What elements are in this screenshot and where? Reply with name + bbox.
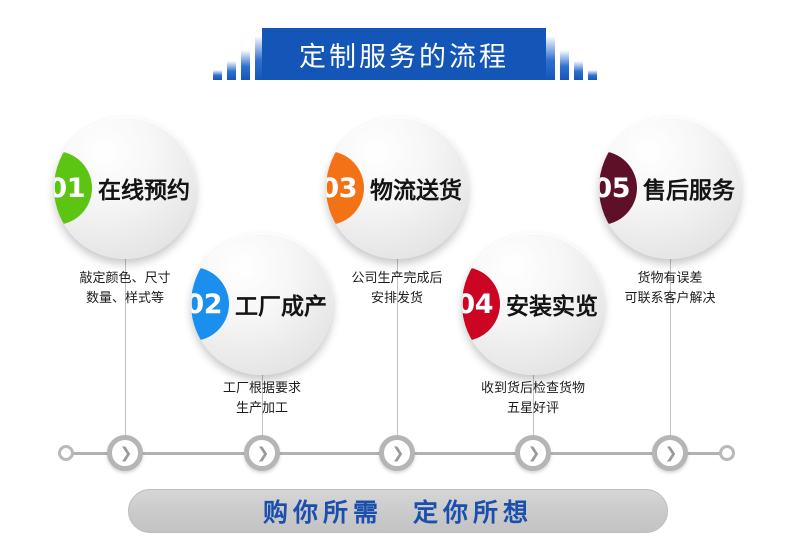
caption-line: 收到货后检查货物 (448, 378, 618, 398)
step-number: 03 (326, 173, 357, 204)
step-node-01[interactable]: 01 在线预约 (54, 117, 196, 259)
step-caption-05: 货物有误差 可联系客户解决 (585, 268, 755, 308)
chevron-right-icon: ❯ (257, 446, 270, 461)
decor-bar (560, 50, 569, 80)
chevron-right-icon: ❯ (392, 446, 405, 461)
step-node-03[interactable]: 03 物流送货 (326, 117, 468, 259)
caption-line: 可联系客户解决 (585, 288, 755, 308)
timeline-end-cap-left (58, 445, 74, 461)
caption-line: 生产加工 (177, 398, 347, 418)
title-area: 定制服务的流程 (0, 14, 790, 80)
infographic-root: 定制服务的流程 01 在线预约 敲定颜色、尺寸 数量、样式等 02 (0, 0, 790, 552)
step-number-badge: 01 (54, 151, 92, 225)
step-number-badge: 05 (599, 151, 637, 225)
chevron-right-icon: ❯ (528, 446, 541, 461)
step-number: 04 (462, 289, 493, 320)
timeline-marker-3[interactable]: ❯ (379, 435, 415, 471)
chevron-right-icon: ❯ (665, 446, 678, 461)
caption-line: 数量、样式等 (40, 288, 210, 308)
step-node-05[interactable]: 05 售后服务 (599, 117, 741, 259)
bar-decoration-left (213, 28, 264, 80)
step-caption-03: 公司生产完成后 安排发货 (312, 268, 482, 308)
decor-bar (213, 70, 222, 80)
footer-slogan: 购你所需 定你所想 (263, 493, 533, 529)
decor-bar (241, 50, 250, 80)
caption-line: 敲定颜色、尺寸 (40, 268, 210, 288)
step-number-badge: 03 (326, 151, 364, 225)
decor-bar (574, 61, 583, 80)
step-caption-02: 工厂根据要求 生产加工 (177, 378, 347, 418)
timeline-marker-2[interactable]: ❯ (244, 435, 280, 471)
timeline-marker-1[interactable]: ❯ (107, 435, 143, 471)
caption-line: 货物有误差 (585, 268, 755, 288)
step-caption-01: 敲定颜色、尺寸 数量、样式等 (40, 268, 210, 308)
caption-line: 公司生产完成后 (312, 268, 482, 288)
decor-bar (588, 70, 597, 80)
step-label: 物流送货 (370, 169, 474, 207)
bar-decoration-right (546, 28, 597, 80)
title-banner: 定制服务的流程 (262, 28, 546, 80)
caption-line: 工厂根据要求 (177, 378, 347, 398)
step-caption-04: 收到货后检查货物 五星好评 (448, 378, 618, 418)
timeline-marker-5[interactable]: ❯ (652, 435, 688, 471)
step-number: 02 (191, 289, 222, 320)
caption-line: 五星好评 (448, 398, 618, 418)
caption-line: 安排发货 (312, 288, 482, 308)
timeline-end-cap-right (719, 445, 735, 461)
step-label: 售后服务 (643, 169, 747, 207)
chevron-right-icon: ❯ (120, 446, 133, 461)
decor-bar (227, 61, 236, 80)
step-number-badge: 02 (191, 267, 229, 341)
step-number: 01 (54, 173, 85, 204)
timeline-marker-4[interactable]: ❯ (515, 435, 551, 471)
step-number-badge: 04 (462, 267, 500, 341)
decor-bar (546, 36, 555, 80)
step-node-04[interactable]: 04 安装实览 (462, 233, 604, 375)
step-number: 05 (599, 173, 630, 204)
footer-banner: 购你所需 定你所想 (128, 489, 668, 533)
page-title: 定制服务的流程 (299, 35, 509, 74)
step-label: 在线预约 (98, 169, 202, 207)
